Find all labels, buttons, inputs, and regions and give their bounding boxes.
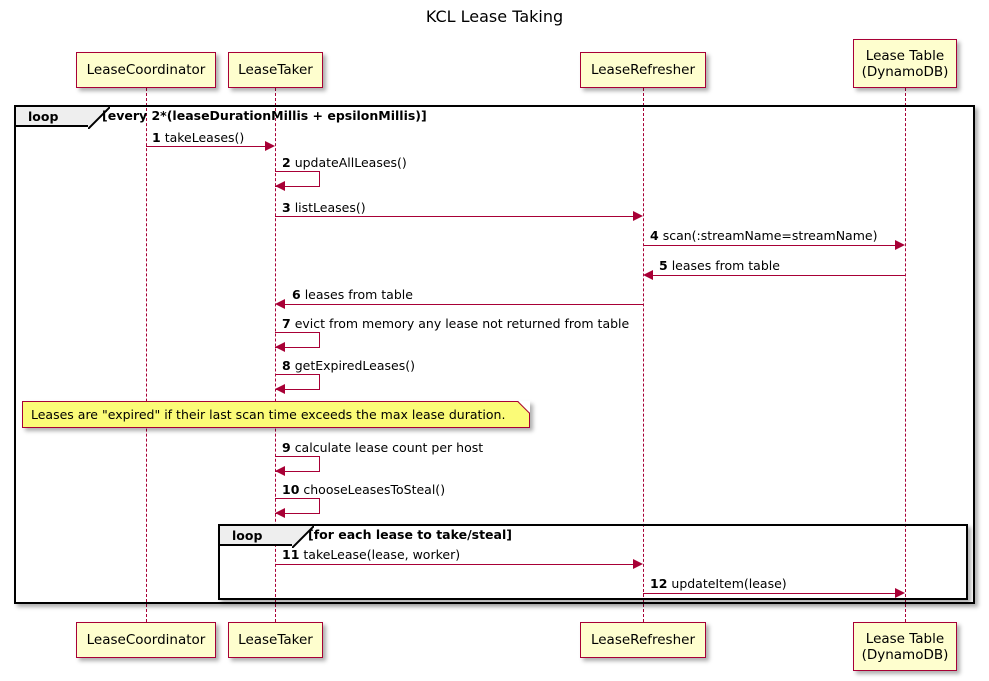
frame-inner-loop-condition: [for each lease to take/steal]	[308, 527, 512, 542]
message-8-number: 8	[282, 358, 291, 373]
message-6-text: leases from table	[305, 287, 413, 302]
message-8-arrowhead-icon	[275, 384, 285, 394]
page-title: KCL Lease Taking	[0, 7, 989, 26]
message-7-label: 7 evict from memory any lease not return…	[282, 316, 629, 331]
message-3-arrowhead-icon	[633, 211, 643, 221]
message-4-line	[643, 245, 896, 246]
message-2-label: 2 updateAllLeases()	[282, 155, 407, 170]
message-3-text: listLeases()	[295, 200, 366, 215]
message-9-arrowhead-icon	[275, 466, 285, 476]
message-5-arrowhead-icon	[643, 270, 653, 280]
message-10-text: chooseLeasesToSteal()	[303, 482, 445, 497]
message-10-number: 10	[282, 482, 299, 497]
sequence-diagram-canvas: KCL Lease Taking LeaseCoordinator LeaseT…	[0, 0, 989, 681]
message-11-line	[275, 564, 634, 565]
message-1-text: takeLeases()	[165, 130, 245, 145]
message-7-number: 7	[282, 316, 291, 331]
message-12-number: 12	[650, 576, 667, 591]
message-5-label: 5 leases from table	[659, 258, 780, 273]
message-6-line	[285, 304, 643, 305]
message-6-arrowhead-icon	[275, 299, 285, 309]
participant-leasecoordinator-bottom[interactable]: LeaseCoordinator	[76, 622, 216, 658]
message-6-number: 6	[292, 287, 301, 302]
message-6-label: 6 leases from table	[292, 287, 413, 302]
message-10-label: 10 chooseLeasesToSteal()	[282, 482, 445, 497]
message-1-label: 1 takeLeases()	[152, 130, 244, 145]
message-7-text: evict from memory any lease not returned…	[295, 316, 630, 331]
participant-leasetable-bottom[interactable]: Lease Table (DynamoDB)	[853, 622, 957, 671]
message-3-line	[275, 216, 634, 217]
message-1-arrowhead-icon	[265, 141, 275, 151]
message-5-text: leases from table	[672, 258, 780, 273]
participant-leasetaker-bottom[interactable]: LeaseTaker	[228, 622, 323, 658]
message-11-label: 11 takeLease(lease, worker)	[282, 547, 460, 562]
participant-leasecoordinator-top[interactable]: LeaseCoordinator	[76, 52, 216, 88]
message-2-text: updateAllLeases()	[295, 155, 407, 170]
frame-inner-loop-tab: loop	[220, 526, 294, 546]
message-5-line	[653, 275, 905, 276]
message-10-arrowhead-icon	[275, 508, 285, 518]
participant-leaserefresher-bottom[interactable]: LeaseRefresher	[580, 622, 706, 658]
message-11-number: 11	[282, 547, 299, 562]
message-11-arrowhead-icon	[633, 559, 643, 569]
message-12-text: updateItem(lease)	[671, 576, 786, 591]
message-9-number: 9	[282, 440, 291, 455]
message-11-text: takeLease(lease, worker)	[303, 547, 460, 562]
message-4-text: scan(:streamName=streamName)	[663, 228, 878, 243]
message-2-number: 2	[282, 155, 291, 170]
message-1-number: 1	[152, 130, 161, 145]
message-4-label: 4 scan(:streamName=streamName)	[650, 228, 877, 243]
message-2-arrowhead-icon	[275, 181, 285, 191]
frame-outer-loop-condition: [every 2*(leaseDurationMillis + epsilonM…	[102, 108, 427, 123]
message-8-label: 8 getExpiredLeases()	[282, 358, 415, 373]
message-4-number: 4	[650, 228, 659, 243]
message-4-arrowhead-icon	[895, 240, 905, 250]
message-9-text: calculate lease count per host	[295, 440, 483, 455]
note-expired-leases: Leases are "expired" if their last scan …	[22, 401, 530, 428]
message-3-number: 3	[282, 200, 291, 215]
participant-leaserefresher-top[interactable]: LeaseRefresher	[580, 52, 706, 88]
message-1-line	[146, 146, 266, 147]
message-5-number: 5	[659, 258, 668, 273]
message-12-line	[643, 593, 896, 594]
message-12-arrowhead-icon	[895, 588, 905, 598]
participant-leasetable-top[interactable]: Lease Table (DynamoDB)	[853, 39, 957, 88]
message-8-text: getExpiredLeases()	[295, 358, 415, 373]
frame-outer-loop-tab: loop	[16, 107, 90, 127]
message-3-label: 3 listLeases()	[282, 200, 366, 215]
participant-leasetaker-top[interactable]: LeaseTaker	[228, 52, 323, 88]
message-12-label: 12 updateItem(lease)	[650, 576, 787, 591]
message-7-arrowhead-icon	[275, 342, 285, 352]
message-9-label: 9 calculate lease count per host	[282, 440, 483, 455]
